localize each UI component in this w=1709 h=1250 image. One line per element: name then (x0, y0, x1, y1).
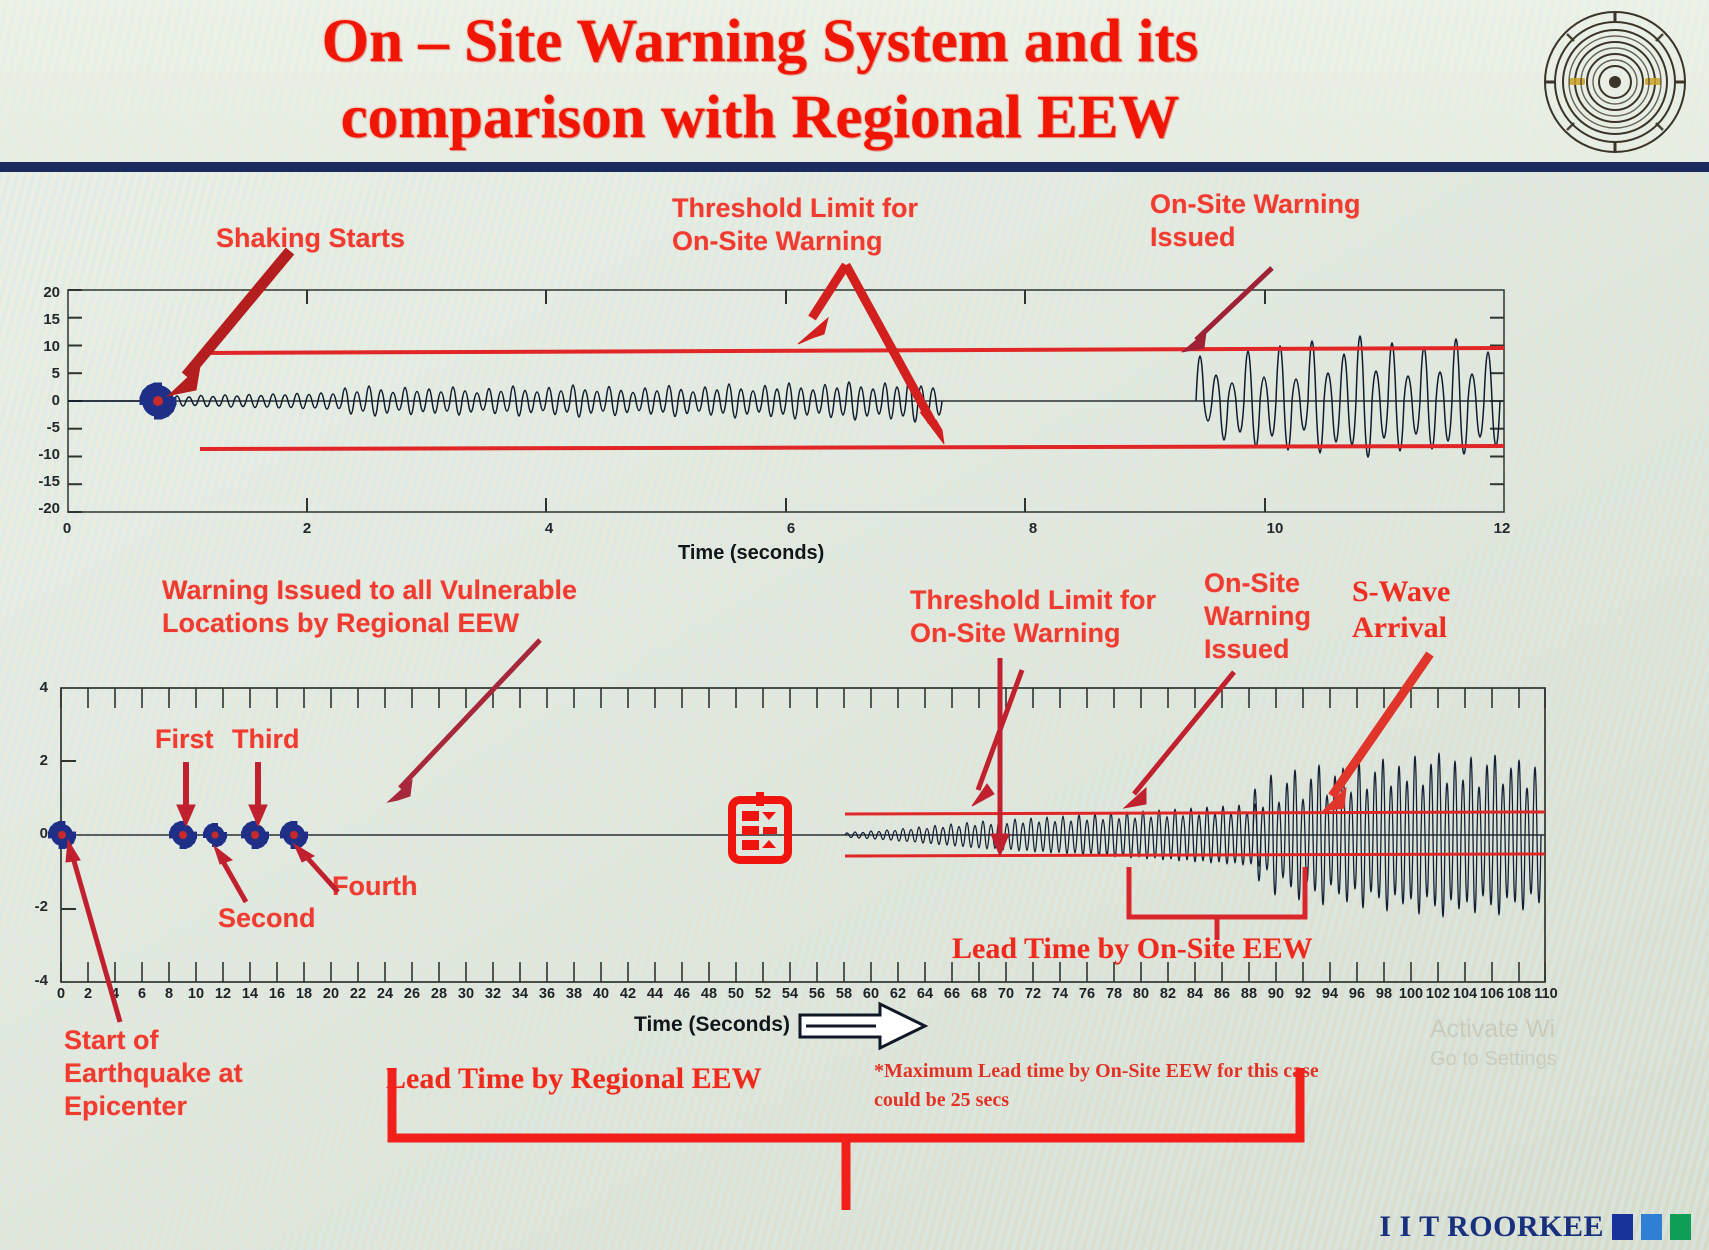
shaking-starts-marker (139, 382, 176, 419)
annotation-fourth-warning: Fourth (332, 870, 417, 903)
lead-time-regional-label: Lead Time by Regional EEW (386, 1062, 762, 1096)
bottom-y-tick-neg2: -2 (14, 898, 48, 915)
y-tick-neg5: -5 (28, 419, 60, 436)
footer-square-3 (1670, 1214, 1691, 1240)
bottom-y-tick-neg4: -4 (14, 972, 48, 989)
arrow-third (249, 762, 267, 826)
arrow-first (177, 762, 195, 826)
upper-threshold-line (200, 348, 1504, 353)
annotation-swave-arrival: S-Wave Arrival (1352, 574, 1450, 646)
top-waveform (68, 336, 1500, 457)
footnote-max-lead-time: *Maximum Lead time by On-Site EEW for th… (874, 1057, 1484, 1115)
x-tick-8: 8 (1018, 520, 1048, 537)
page-title-line1: On – Site Warning System and its (160, 4, 1360, 80)
arrow-swave-arrival (1320, 654, 1430, 814)
lead-time-onsite-bracket (1129, 867, 1305, 940)
bottom-y-tick-4: 4 (22, 679, 48, 696)
annotation-onsite-warning-issued-top: On-Site Warning Issued (1150, 188, 1361, 254)
page-title: On – Site Warning System and its compari… (160, 4, 1360, 156)
arrow-shaking-starts (168, 251, 290, 396)
broadcast-alert-icon (732, 792, 788, 860)
iit-roorkee-footer-brand: I I T ROORKEE (1379, 1210, 1691, 1244)
x-tick-4: 4 (534, 520, 564, 537)
x-tick-0: 0 (52, 520, 82, 537)
annotation-onsite-warning-issued-bottom: On-Site Warning Issued (1204, 567, 1311, 666)
annotation-start-of-earthquake: Start of Earthquake at Epicenter (64, 1024, 243, 1123)
arrow-second (214, 846, 246, 902)
top-accelerogram-chart: Shaking Starts Threshold Limit for On-Si… (0, 172, 1709, 562)
annotation-shaking-starts: Shaking Starts (216, 222, 405, 255)
y-tick-0: 0 (28, 392, 60, 409)
slide-root: On – Site Warning System and its compari… (0, 0, 1709, 1250)
annotation-threshold-limit-top: Threshold Limit for On-Site Warning (672, 192, 918, 258)
fourth-warning-marker (280, 821, 308, 849)
arrow-onsite-warning-issued-bottom (1124, 672, 1234, 808)
second-warning-marker (203, 823, 227, 847)
y-tick-10: 10 (28, 338, 60, 355)
annotation-regional-warning-issued: Warning Issued to all Vulnerable Locatio… (162, 574, 577, 640)
bottom-chart-xaxis-title: Time (Seconds) (634, 1013, 790, 1037)
annotation-second-warning: Second (218, 902, 316, 935)
arrow-threshold-limit-bottom (972, 670, 1022, 806)
footer-square-2 (1641, 1214, 1662, 1240)
first-warning-marker (169, 821, 197, 849)
bottom-upper-threshold-line (845, 812, 1545, 814)
arrow-threshold-limit-bottom-2 (991, 658, 1009, 856)
footer-square-1 (1612, 1214, 1633, 1240)
arrow-regional-warning (388, 640, 540, 802)
footer-brand-text: I I T ROORKEE (1379, 1210, 1604, 1244)
annotation-first-warning: First (155, 723, 214, 756)
y-tick-5: 5 (28, 365, 60, 382)
x-tick-12: 12 (1487, 520, 1517, 537)
y-tick-neg10: -10 (28, 446, 60, 463)
bottom-lower-threshold-line (845, 854, 1545, 856)
bottom-waveform (845, 753, 1541, 917)
x-tick-10: 10 (1260, 520, 1290, 537)
iit-roorkee-emblem-icon (1541, 8, 1689, 156)
y-tick-neg15: -15 (28, 473, 60, 490)
windows-activation-watermark: Activate Wi Go to Settings (1430, 1014, 1557, 1074)
arrow-threshold-limit-top (798, 265, 944, 444)
bottom-y-tick-2: 2 (22, 752, 48, 769)
lead-time-onsite-label: Lead Time by On-Site EEW (952, 932, 1313, 966)
lower-threshold-line (200, 446, 1504, 449)
x-tick-2: 2 (292, 520, 322, 537)
slide-header: On – Site Warning System and its compari… (0, 0, 1709, 172)
arrow-onsite-warning-issued-top (1182, 268, 1272, 352)
page-title-line2: comparison with Regional EEW (160, 80, 1360, 156)
epicenter-marker (48, 821, 76, 849)
annotation-third-warning: Third (232, 723, 300, 756)
y-tick-neg20: -20 (28, 500, 60, 517)
y-tick-20: 20 (28, 284, 60, 301)
annotation-threshold-limit-bottom: Threshold Limit for On-Site Warning (910, 584, 1156, 650)
third-warning-marker (241, 821, 269, 849)
x-tick-6: 6 (776, 520, 806, 537)
bottom-y-tick-0: 0 (22, 825, 48, 842)
y-tick-15: 15 (28, 311, 60, 328)
